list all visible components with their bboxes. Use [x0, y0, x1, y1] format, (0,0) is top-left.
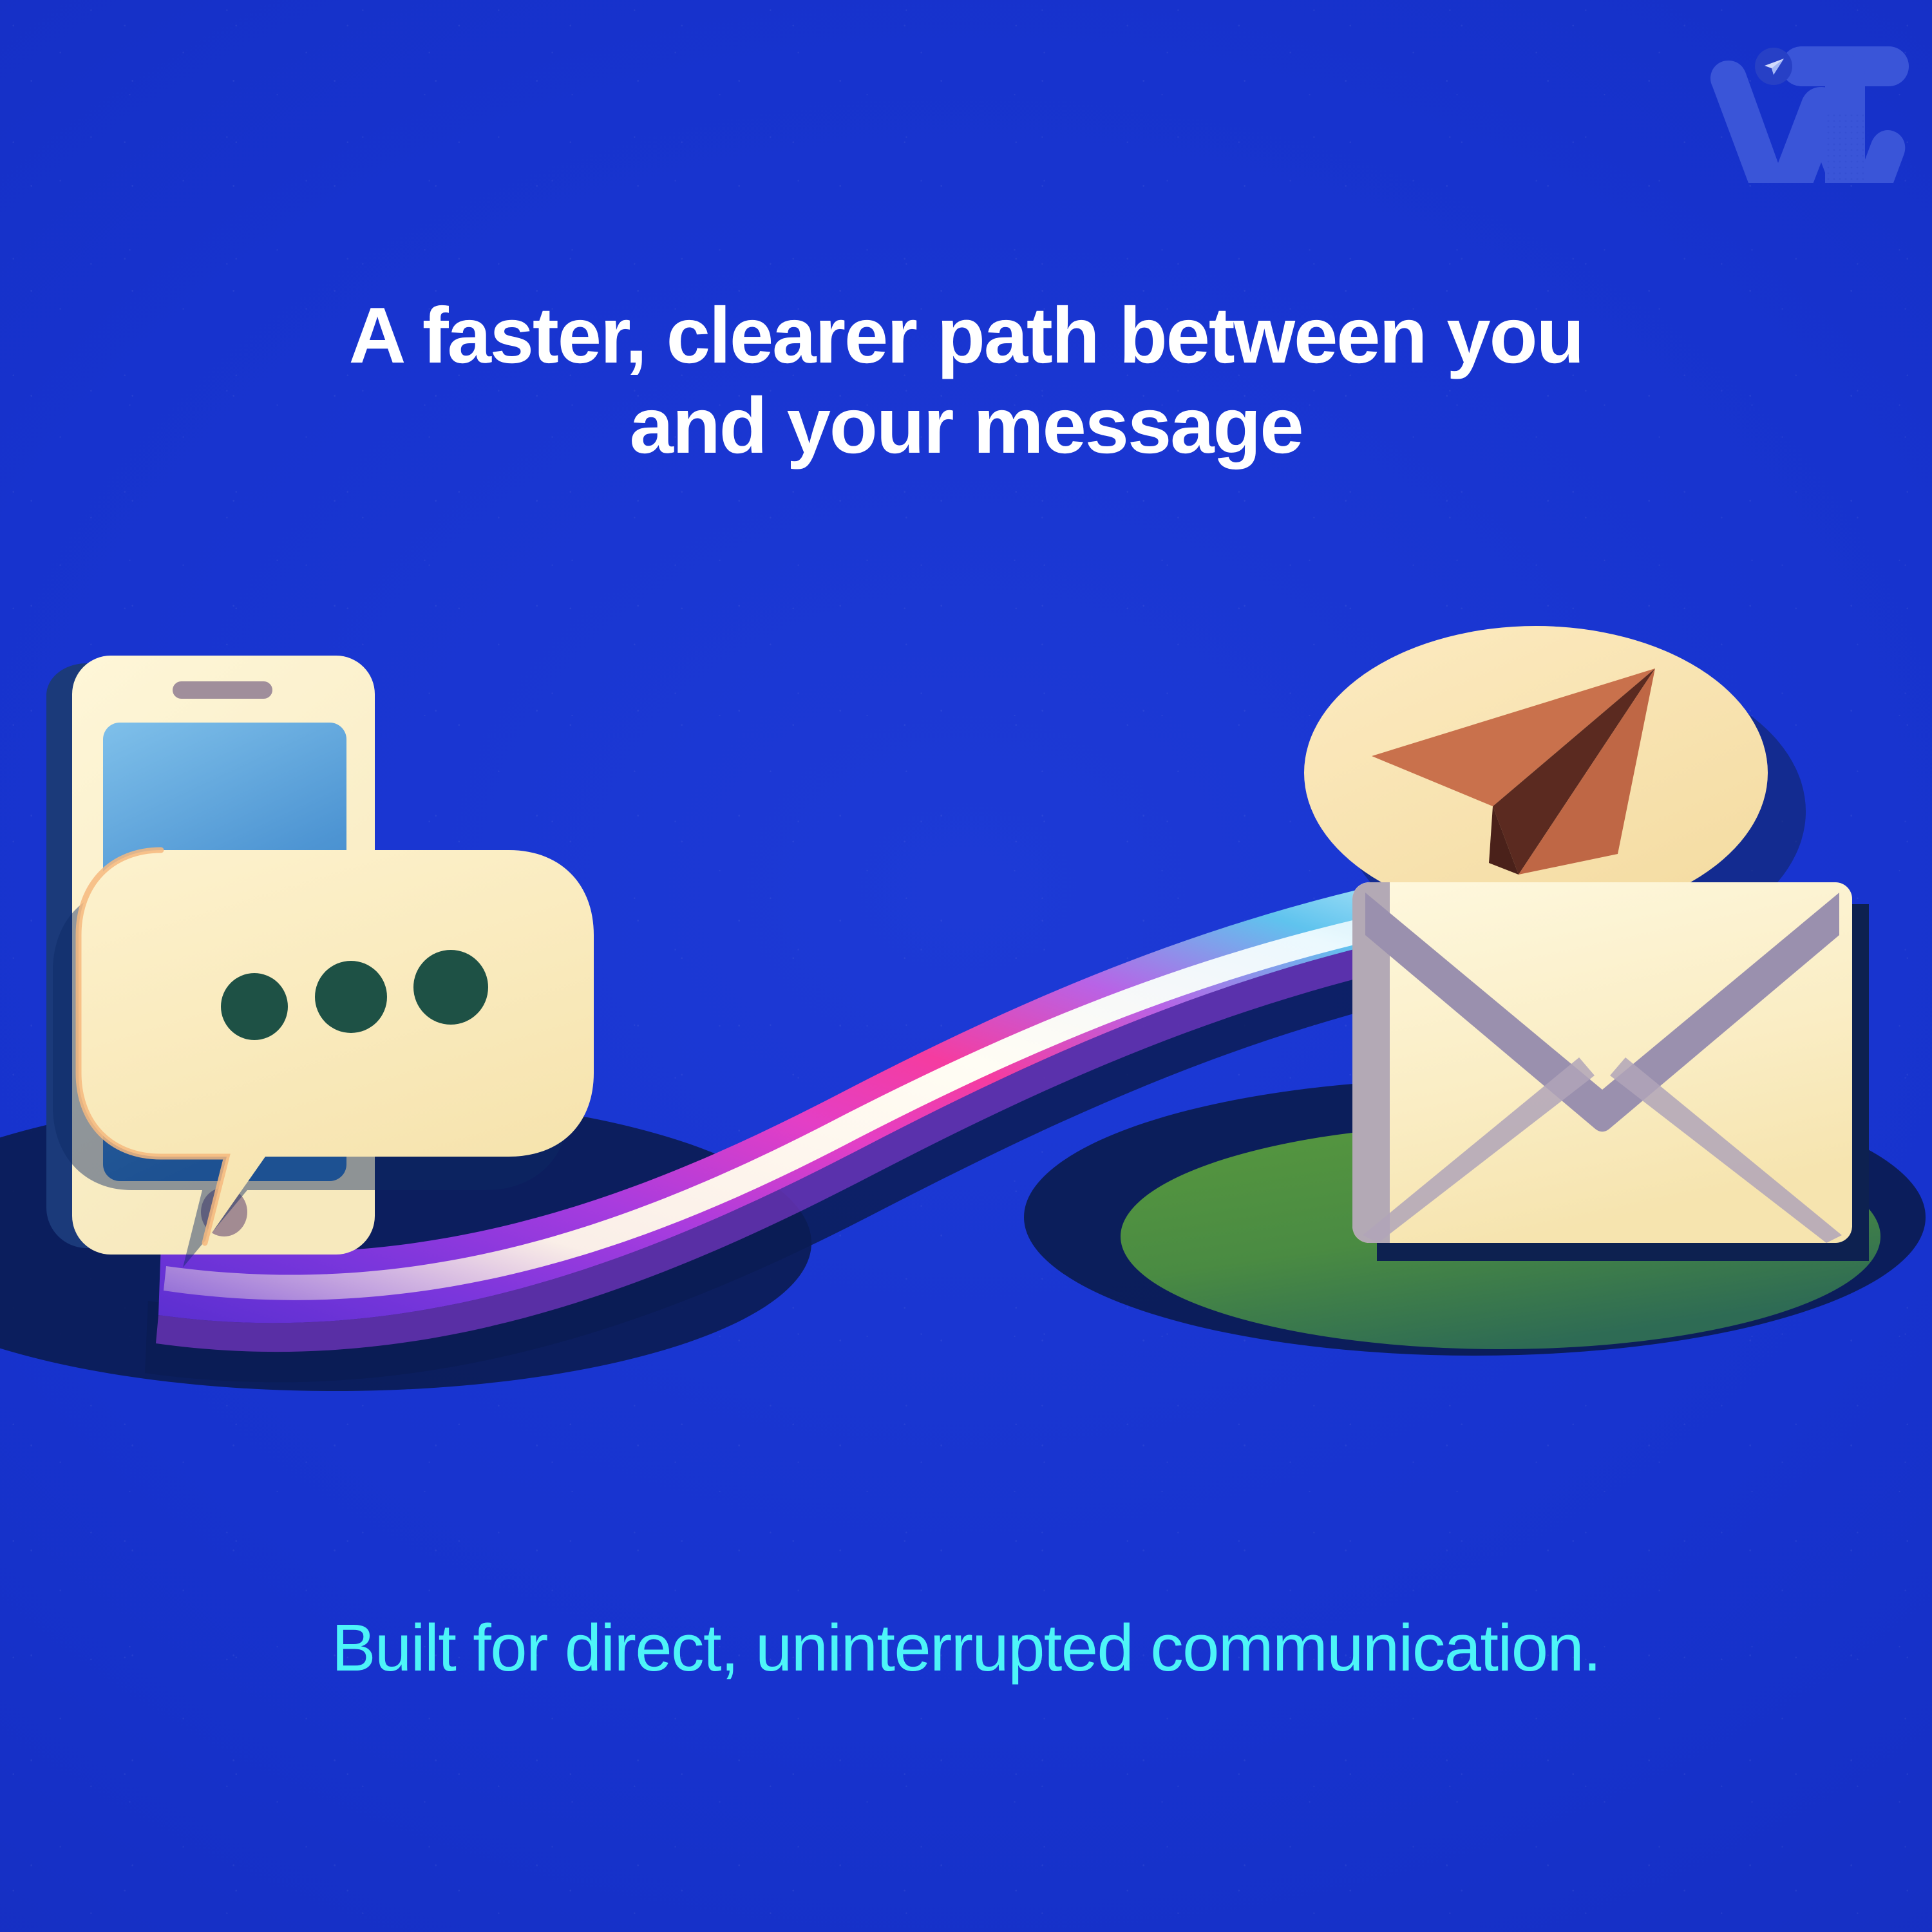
illustration [0, 502, 1932, 1417]
brand-watermark [1705, 15, 1918, 183]
headline: A faster, clearer path between you and y… [0, 291, 1932, 471]
phone-speaker-icon [173, 681, 272, 699]
caption: Built for direct, uninterrupted communic… [0, 1610, 1932, 1686]
watermark-svg [1705, 15, 1918, 183]
chat-bubble-dot [221, 973, 288, 1040]
envelope [1352, 882, 1869, 1261]
chat-bubble-dot [413, 950, 488, 1025]
chat-bubble-dot [315, 961, 387, 1033]
watermark-paper-plane-icon [1755, 48, 1792, 85]
headline-line-1: A faster, clearer path between you [193, 291, 1739, 381]
headline-line-2: and your message [193, 381, 1739, 471]
watermark-texture [1826, 112, 1864, 183]
poster-canvas: A faster, clearer path between you and y… [0, 0, 1932, 1932]
